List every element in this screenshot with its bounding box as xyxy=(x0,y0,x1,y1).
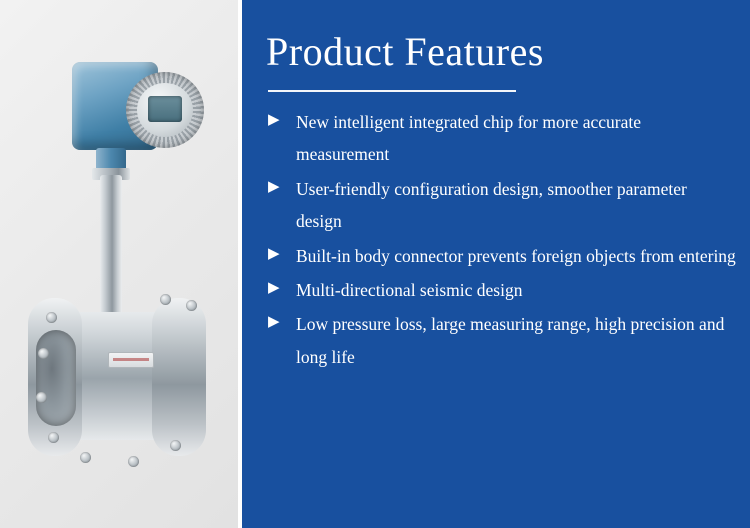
triangle-right-icon: ▶ xyxy=(268,106,280,135)
flange-bore xyxy=(36,330,76,426)
nameplate-label xyxy=(108,352,154,368)
triangle-right-icon: ▶ xyxy=(268,308,280,337)
flange-bolt xyxy=(36,392,47,403)
list-item: ▶ Multi-directional seismic design xyxy=(268,274,736,306)
list-item: ▶ User-friendly configuration design, sm… xyxy=(268,173,736,238)
flange-bolt xyxy=(38,348,49,359)
product-feature-banner: Product Features ▶ New intelligent integ… xyxy=(0,0,750,528)
list-item-label: Multi-directional seismic design xyxy=(296,280,522,300)
lcd-display xyxy=(148,96,182,122)
triangle-right-icon: ▶ xyxy=(268,274,280,303)
list-item: ▶ Built-in body connector prevents forei… xyxy=(268,240,736,272)
list-item: ▶ New intelligent integrated chip for mo… xyxy=(268,106,736,171)
flange-bolt xyxy=(170,440,181,451)
list-item-label: User-friendly configuration design, smoo… xyxy=(296,179,687,231)
list-item: ▶ Low pressure loss, large measuring ran… xyxy=(268,308,736,373)
triangle-right-icon: ▶ xyxy=(268,240,280,269)
flange-bolt xyxy=(48,432,59,443)
list-item-label: New intelligent integrated chip for more… xyxy=(296,112,641,164)
title-divider xyxy=(268,90,516,92)
flange-bolt xyxy=(160,294,171,305)
flange-bolt xyxy=(46,312,57,323)
list-item-label: Built-in body connector prevents foreign… xyxy=(296,246,736,266)
flange-bolt xyxy=(186,300,197,311)
product-image-panel xyxy=(0,0,238,528)
page-title: Product Features xyxy=(262,18,736,74)
triangle-right-icon: ▶ xyxy=(268,173,280,202)
housing-knob xyxy=(64,76,80,92)
flange-ring-right xyxy=(152,298,206,456)
feature-list: ▶ New intelligent integrated chip for mo… xyxy=(262,106,736,373)
features-panel: Product Features ▶ New intelligent integ… xyxy=(238,0,750,528)
list-item-label: Low pressure loss, large measuring range… xyxy=(296,314,724,366)
flange-bolt xyxy=(128,456,139,467)
flange-bolt xyxy=(80,452,91,463)
riser-tube xyxy=(100,175,122,325)
